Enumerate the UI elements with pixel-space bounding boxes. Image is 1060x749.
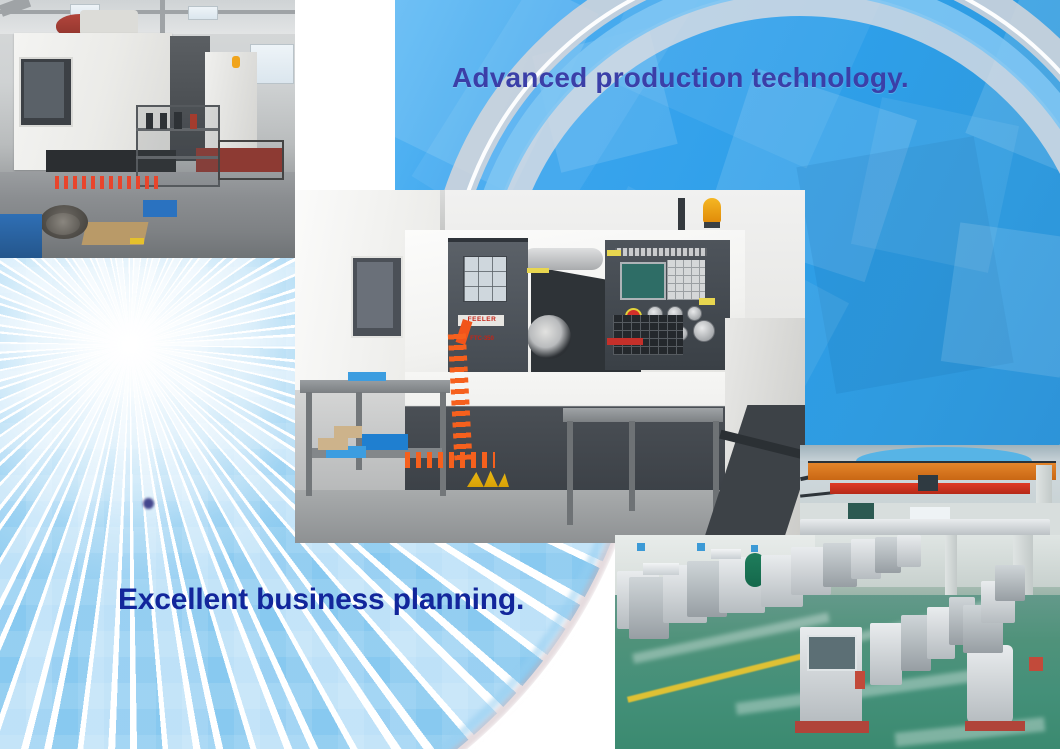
side-bench	[218, 140, 284, 180]
wall-sign	[751, 545, 758, 552]
photo-factory-hall-upper	[800, 445, 1060, 537]
bench-leg	[567, 421, 573, 525]
bench-leg	[629, 421, 635, 511]
ceiling-beam	[0, 10, 295, 14]
orange-coil-hose	[405, 452, 495, 468]
panel-indicator-strip	[615, 248, 707, 256]
machine-frame	[643, 563, 679, 575]
wall-sign	[697, 543, 705, 551]
background-machine-window	[357, 262, 393, 328]
blue-bin	[0, 214, 42, 258]
blue-toolbox	[143, 200, 177, 217]
tool-holder	[160, 113, 167, 129]
control-knob[interactable]	[687, 306, 702, 321]
yellow-tool	[130, 238, 144, 244]
red-pallet	[795, 721, 869, 733]
tool-holder	[174, 112, 182, 129]
machine-row-right	[870, 623, 902, 685]
machine-row-right	[995, 565, 1025, 601]
warning-label	[607, 338, 643, 345]
wall-sign	[637, 543, 645, 551]
bg-shard	[941, 222, 1060, 377]
beacon-base	[704, 222, 720, 228]
machine-row-right	[967, 645, 1013, 723]
ceiling	[0, 0, 295, 34]
photo-factory-hall	[615, 535, 1060, 749]
headline-advanced-production-technology: Advanced production technology.	[452, 62, 909, 94]
machine-window	[24, 62, 64, 118]
cnc-soft-keys	[667, 260, 705, 300]
red-marker	[855, 671, 865, 689]
headline-excellent-business-planning: Excellent business planning.	[118, 583, 524, 617]
red-marker	[1029, 657, 1043, 671]
bench-leg	[306, 392, 312, 496]
beacon-light	[232, 56, 240, 68]
bench-top	[563, 408, 723, 422]
caution-label	[527, 268, 549, 273]
red-coil-hose	[55, 176, 163, 189]
decorative-dot	[143, 498, 154, 509]
metal-part	[46, 213, 80, 235]
tool-holder	[190, 114, 197, 129]
tool-holder	[146, 113, 153, 129]
bench-top	[300, 380, 450, 393]
work-bench-right	[563, 408, 723, 533]
work-bench-left	[300, 380, 450, 500]
lathe-door-window	[463, 256, 507, 302]
banner-canvas: FEELER FTC-350	[0, 0, 1060, 749]
crane-hoist	[918, 475, 938, 491]
blue-tray	[348, 372, 386, 381]
cnc-screen	[620, 262, 666, 300]
caution-label	[607, 250, 621, 256]
carton-box	[334, 426, 362, 438]
photo-cnc-machining-centre	[0, 0, 295, 258]
machine-row-center	[897, 535, 921, 567]
carton-box	[318, 438, 348, 450]
hand-wheel[interactable]	[693, 320, 715, 342]
red-pallet	[965, 721, 1025, 731]
rack-shelf	[136, 156, 218, 159]
cnc-keypad[interactable]	[613, 315, 683, 355]
lathe-chuck	[527, 315, 571, 359]
caution-label	[699, 298, 715, 305]
bench-leg	[440, 392, 446, 496]
press-viewing-window	[807, 635, 857, 671]
blue-tray	[362, 434, 408, 450]
orange-beacon-light	[703, 198, 721, 223]
lathe-spindle	[523, 248, 603, 270]
photo-feeler-cnc-lathe: FEELER FTC-350	[295, 190, 805, 543]
window	[188, 6, 218, 20]
machine-frame	[711, 549, 741, 559]
